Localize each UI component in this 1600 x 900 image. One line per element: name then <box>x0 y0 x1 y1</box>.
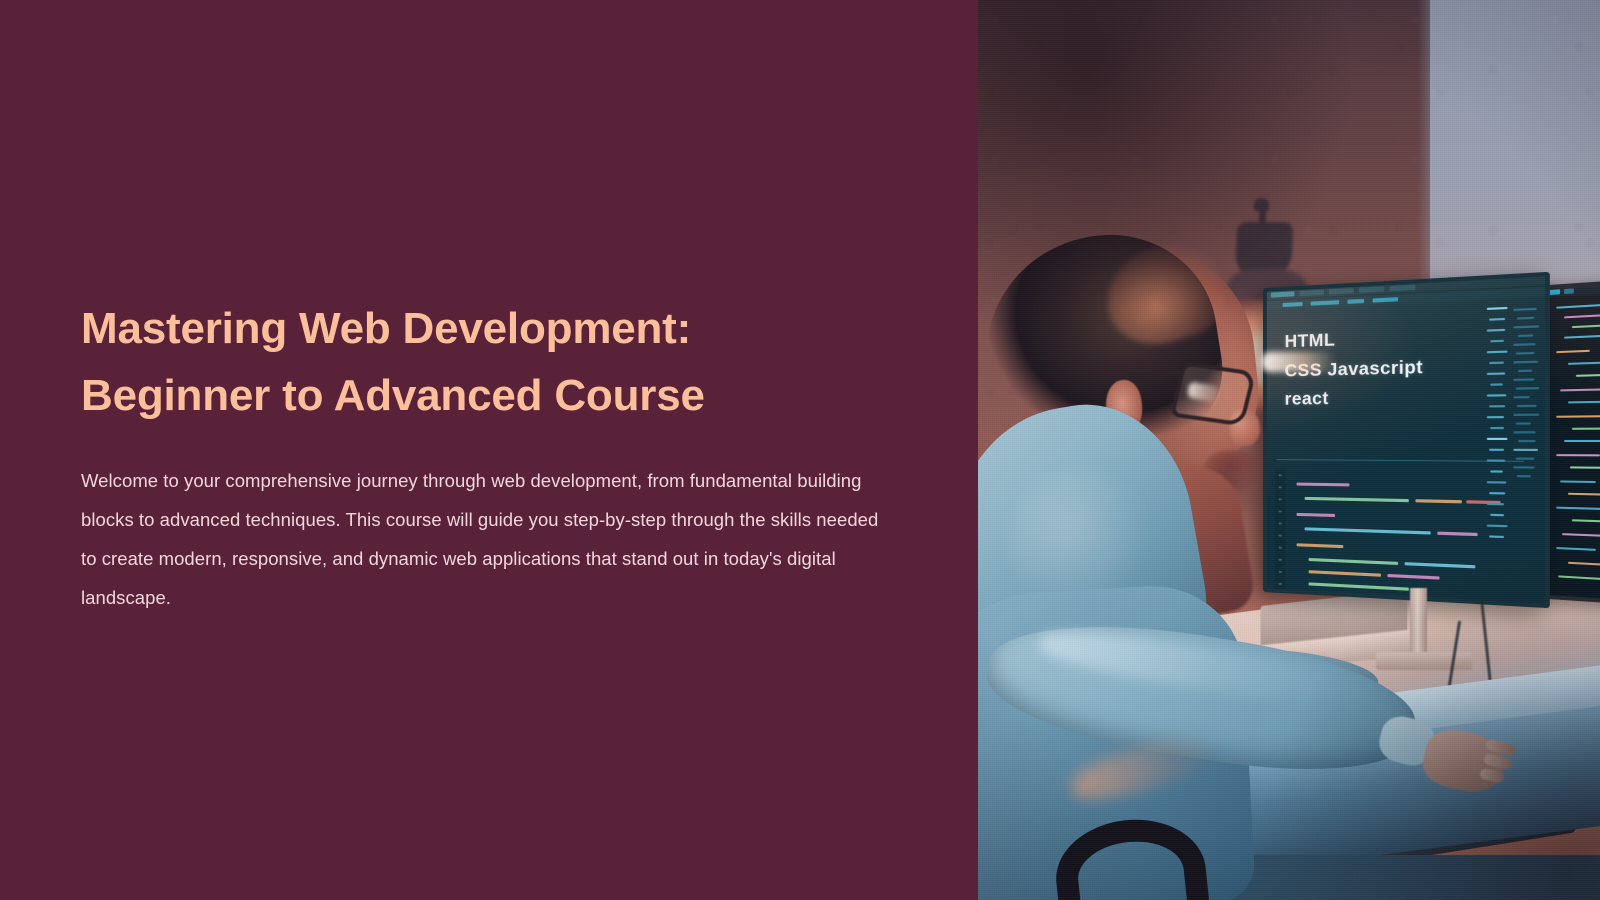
course-intro-slide: Mastering Web Development: Beginner to A… <box>0 0 1600 900</box>
photo-vignette <box>978 0 1600 900</box>
text-content-block: Mastering Web Development: Beginner to A… <box>81 296 911 618</box>
hero-photo: HTML CSS Javascript react <box>978 0 1600 900</box>
text-panel: Mastering Web Development: Beginner to A… <box>0 0 978 900</box>
page-title: Mastering Web Development: Beginner to A… <box>81 296 911 430</box>
course-description: Welcome to your comprehensive journey th… <box>81 461 893 618</box>
